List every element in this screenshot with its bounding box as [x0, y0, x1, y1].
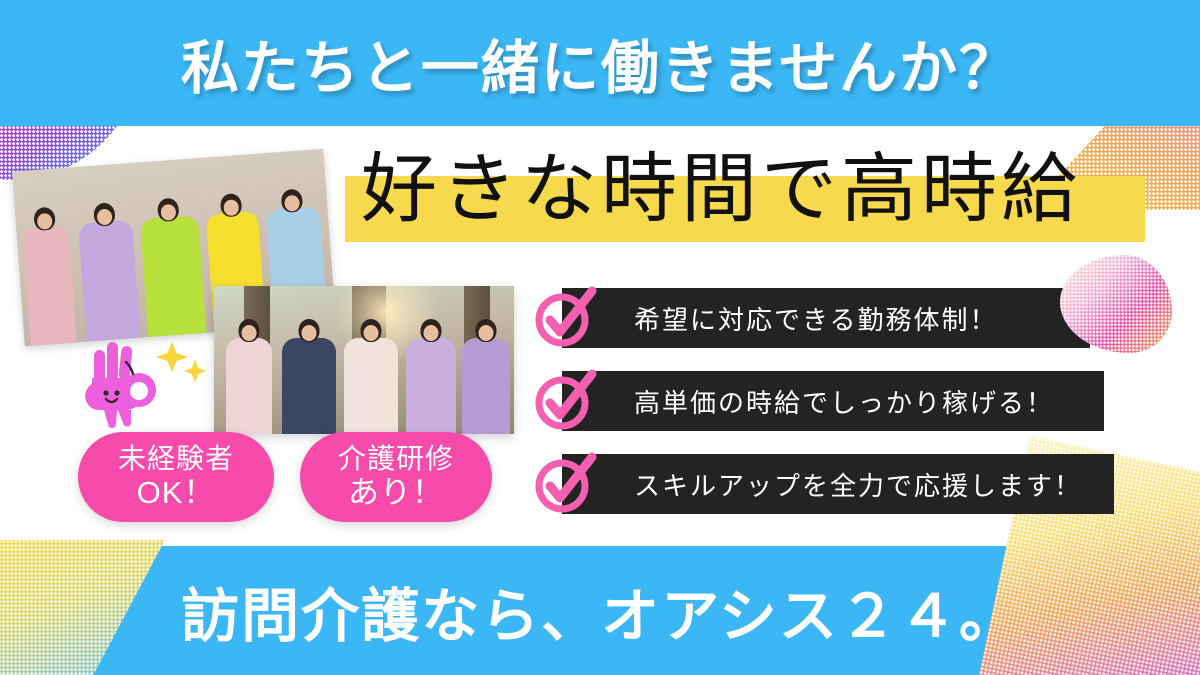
- feature-text: スキルアップを全力で応援します！: [634, 466, 1082, 503]
- header-banner: 私たちと一緒に働きませんか？: [0, 0, 1200, 126]
- feature-text: 希望に対応できる勤務体制！: [634, 300, 997, 337]
- figure-face-icon: [242, 325, 257, 341]
- photo-figure: [226, 338, 272, 434]
- check-circle-icon: [532, 285, 598, 351]
- photo-team-outdoor: [214, 286, 514, 434]
- feature-bar-0: 希望に対応できる勤務体制！: [562, 288, 1090, 348]
- figure-face-icon: [424, 325, 439, 341]
- figure-face-icon: [479, 325, 494, 341]
- photo-figure: [406, 338, 456, 434]
- badge-line-2: あり！: [348, 475, 444, 510]
- sparkle-icon: [150, 338, 210, 393]
- feature-bar-1: 高単価の時給でしっかり稼げる！: [562, 371, 1104, 431]
- photo-figure: [140, 215, 206, 337]
- photo-figure: [282, 338, 336, 434]
- feature-bar-2: スキルアップを全力で応援します！: [562, 454, 1114, 514]
- photo-figure: [462, 338, 510, 434]
- check-circle-icon: [532, 368, 598, 434]
- photo-figure: [22, 225, 77, 346]
- header-title: 私たちと一緒に働きませんか？: [181, 21, 1019, 105]
- check-circle-icon: [532, 451, 598, 517]
- headline-text: 好きな時間で高時給: [361, 152, 1081, 228]
- headline-group: 好きな時間で高時給: [345, 176, 1145, 242]
- footer-title: 訪問介護なら、オアシス２４。: [181, 569, 1019, 653]
- figure-face-icon: [364, 325, 379, 341]
- figure-face-icon: [302, 325, 317, 341]
- badge-inexperienced[interactable]: 未経験者 OK！: [78, 432, 274, 522]
- badge-line-2: OK！: [137, 475, 216, 510]
- photo-figure: [344, 338, 398, 434]
- photo-figure: [78, 220, 140, 342]
- badge-training[interactable]: 介護研修 あり！: [300, 432, 492, 522]
- badge-line-1: 介護研修: [338, 443, 454, 475]
- recruitment-banner: 私たちと一緒に働きませんか？ 好きな時間で高時給: [0, 0, 1200, 675]
- badge-line-1: 未経験者: [118, 443, 234, 475]
- footer-banner: 訪問介護なら、オアシス２４。: [0, 546, 1200, 675]
- feature-text: 高単価の時給でしっかり稼げる！: [634, 383, 1054, 420]
